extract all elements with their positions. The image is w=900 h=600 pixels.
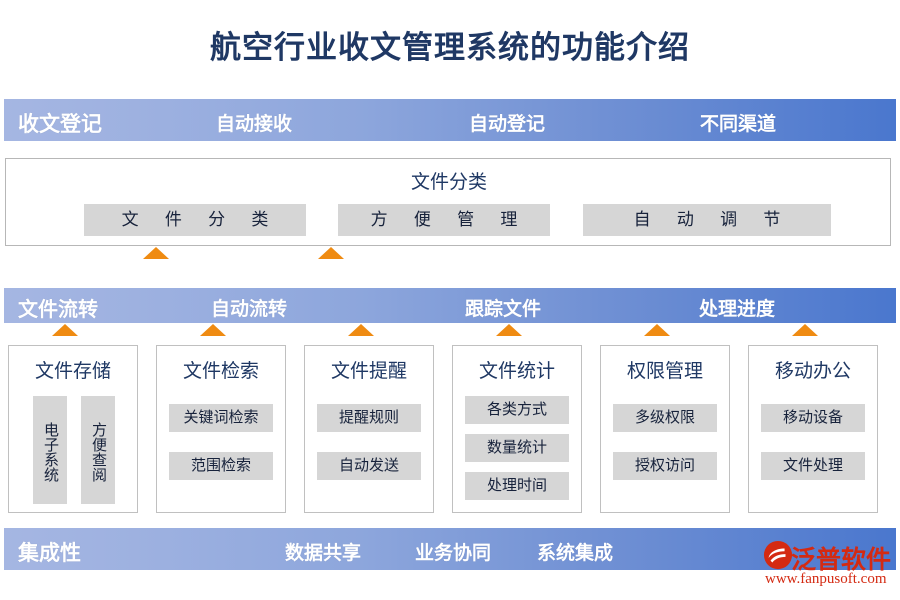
card-chip: 文件处理 [761, 452, 865, 480]
card-title: 权限管理 [601, 356, 729, 383]
arrow-up-icon [318, 247, 344, 281]
card-chip: 数量统计 [465, 434, 569, 462]
band-mid-label: 文件流转 [18, 293, 98, 322]
card-chip: 处理时间 [465, 472, 569, 500]
band-document-flow: 文件流转 自动流转 跟踪文件 处理进度 [4, 288, 896, 323]
classification-title: 文件分类 [6, 167, 892, 194]
card-title: 文件统计 [453, 356, 581, 383]
band-mid-item-2: 处理进度 [699, 294, 775, 321]
infographic-page: 航空行业收文管理系统的功能介绍 收文登记 自动接收 自动登记 不同渠道 文件分类… [0, 0, 900, 600]
band-bottom-label: 集成性 [18, 537, 81, 567]
card-permission-management[interactable]: 权限管理 多级权限 授权访问 [600, 345, 730, 513]
card-title: 文件检索 [157, 356, 285, 383]
card-chip: 提醒规则 [317, 404, 421, 432]
band-top-label: 收文登记 [18, 108, 102, 138]
card-chip: 关键词检索 [169, 404, 273, 432]
band-mid-item-0: 自动流转 [211, 294, 287, 321]
page-title: 航空行业收文管理系统的功能介绍 [0, 22, 900, 67]
logo-url: www.fanpusoft.com [765, 571, 887, 588]
band-top-item-2: 不同渠道 [700, 109, 776, 136]
card-title: 移动办公 [749, 356, 877, 383]
card-chip: 电子系统 [33, 396, 67, 504]
classification-chip-2: 自 动 调 节 [583, 204, 831, 236]
card-file-statistics[interactable]: 文件统计 各类方式 数量统计 处理时间 [452, 345, 582, 513]
band-bottom-item-2: 系统集成 [537, 538, 613, 565]
card-chip: 方便查阅 [81, 396, 115, 504]
classification-chip-1: 方 便 管 理 [338, 204, 550, 236]
classification-panel: 文件分类 文 件 分 类 方 便 管 理 自 动 调 节 [5, 158, 891, 246]
band-bottom-item-0: 数据共享 [285, 538, 361, 565]
fanpu-logo-icon [763, 540, 793, 570]
band-top-item-0: 自动接收 [216, 109, 292, 136]
classification-chip-0: 文 件 分 类 [84, 204, 306, 236]
band-bottom-item-1: 业务协同 [415, 538, 491, 565]
card-chip: 各类方式 [465, 396, 569, 424]
card-chip: 多级权限 [613, 404, 717, 432]
card-mobile-office[interactable]: 移动办公 移动设备 文件处理 [748, 345, 878, 513]
card-chip: 移动设备 [761, 404, 865, 432]
card-chip: 授权访问 [613, 452, 717, 480]
card-file-search[interactable]: 文件检索 关键词检索 范围检索 [156, 345, 286, 513]
brand-logo: 泛普软件 www.fanpusoft.com [763, 538, 895, 592]
band-mid-item-1: 跟踪文件 [465, 294, 541, 321]
card-file-reminder[interactable]: 文件提醒 提醒规则 自动发送 [304, 345, 434, 513]
card-chip: 自动发送 [317, 452, 421, 480]
band-top-item-1: 自动登记 [469, 109, 545, 136]
card-chip: 范围检索 [169, 452, 273, 480]
card-file-storage[interactable]: 文件存储 电子系统 方便查阅 [8, 345, 138, 513]
band-receipt-registration: 收文登记 自动接收 自动登记 不同渠道 [4, 99, 896, 141]
arrow-up-icon [143, 247, 169, 281]
card-title: 文件存储 [9, 356, 137, 383]
card-title: 文件提醒 [305, 356, 433, 383]
